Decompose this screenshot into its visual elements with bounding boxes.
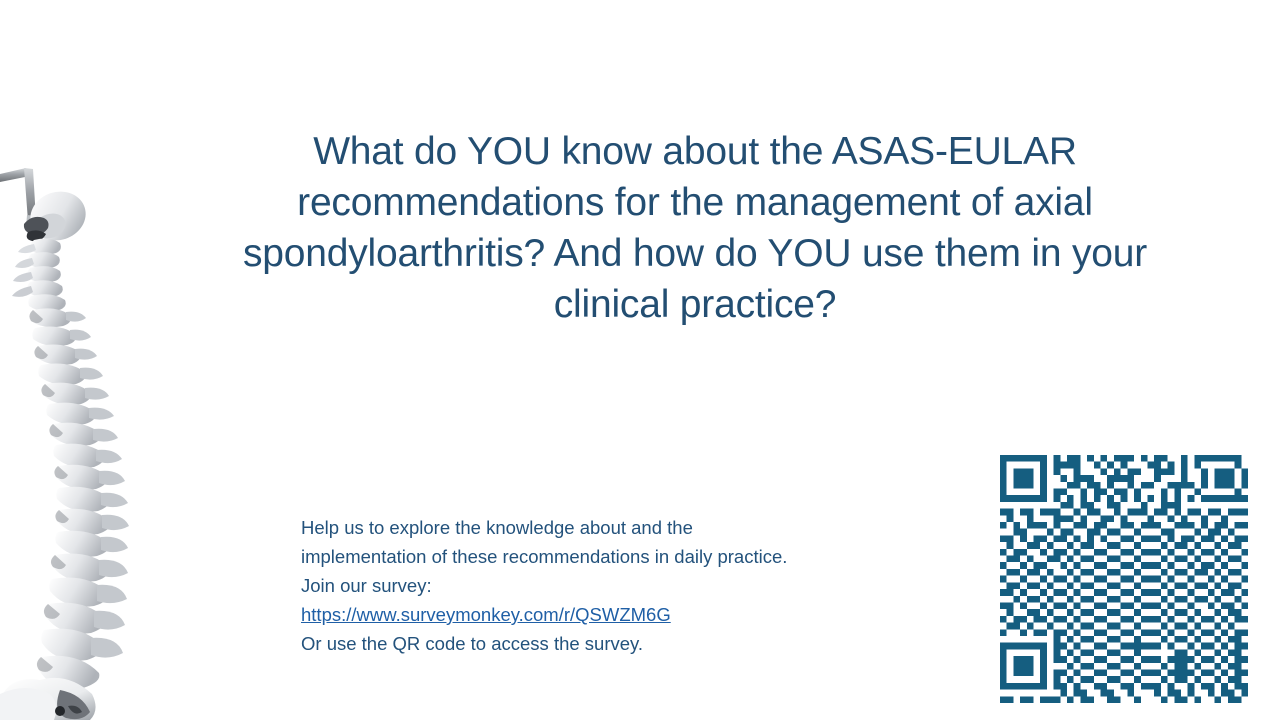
- qr-code-image: [1000, 455, 1248, 703]
- vertebrae-column: [12, 239, 129, 689]
- survey-link[interactable]: https://www.surveymonkey.com/r/QSWZM6G: [301, 604, 671, 625]
- body-line-1: Help us to explore the knowledge about a…: [301, 513, 941, 542]
- body-line-3: Join our survey:: [301, 571, 941, 600]
- survey-url-line: https://www.surveymonkey.com/r/QSWZM6G: [301, 600, 941, 629]
- title-text: What do YOU know about the ASAS-EULAR re…: [215, 126, 1175, 330]
- presentation-slide: What do YOU know about the ASAS-EULAR re…: [0, 0, 1280, 720]
- page-title: What do YOU know about the ASAS-EULAR re…: [215, 126, 1175, 330]
- body-line-5: Or use the QR code to access the survey.: [301, 629, 941, 658]
- body-line-2: implementation of these recommendations …: [301, 542, 941, 571]
- spine-model-photo: [0, 160, 205, 720]
- survey-info-block: Help us to explore the knowledge about a…: [301, 513, 941, 658]
- survey-qr-code[interactable]: [1000, 455, 1248, 703]
